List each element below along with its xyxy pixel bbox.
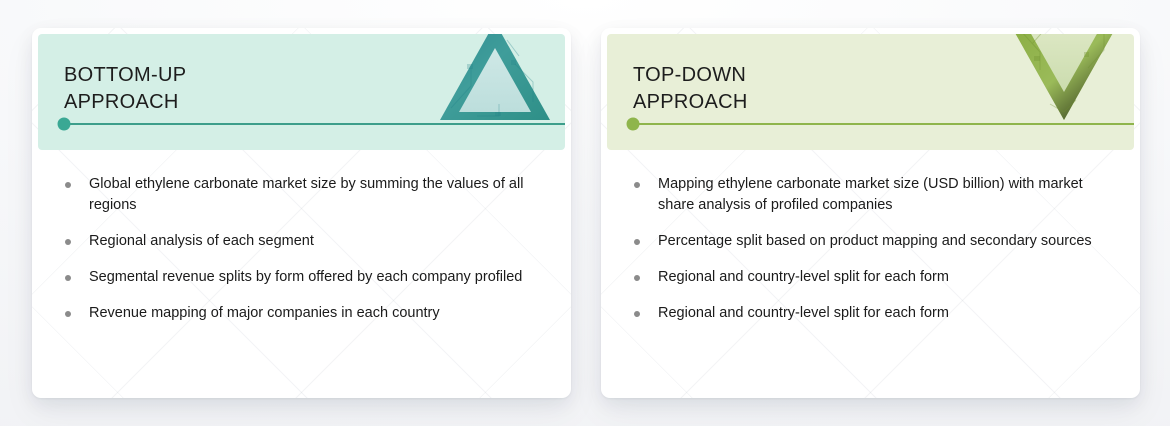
bullet-list-top-down: Mapping ethylene carbonate market size (… [631,174,1112,324]
triangle-up-icon [437,34,553,126]
bullet-dot-icon [65,275,71,281]
list-item: Regional and country-level split for eac… [631,267,1112,288]
header-rule-dot [58,118,71,131]
card-header-top-down: TOP-DOWN APPROACH [607,34,1134,150]
list-item: Segmental revenue splits by form offered… [62,267,543,288]
page-title-bottom-up: BOTTOM-UP APPROACH [64,62,186,116]
bullet-dot-icon [65,311,71,317]
list-item: Percentage split based on product mappin… [631,231,1112,252]
bullet-dot-icon [634,239,640,245]
list-item-text: Mapping ethylene carbonate market size (… [658,176,1083,213]
card-top-down: TOP-DOWN APPROACH [601,28,1140,398]
bullet-dot-icon [65,182,71,188]
bullet-list-bottom-up: Global ethylene carbonate market size by… [62,174,543,324]
card-bottom-up: BOTTOM-UP APPROACH [32,28,571,398]
list-item-text: Segmental revenue splits by form offered… [89,269,522,285]
list-item: Regional and country-level split for eac… [631,303,1112,324]
list-item-text: Revenue mapping of major companies in ea… [89,305,440,321]
header-rule-bar [70,123,565,125]
bullet-dot-icon [634,311,640,317]
bullet-dot-icon [65,239,71,245]
header-rule-bottom-up [64,123,565,125]
triangle-down-icon [1006,34,1122,126]
card-body-top-down: Mapping ethylene carbonate market size (… [607,150,1134,390]
approach-cards-container: BOTTOM-UP APPROACH [0,0,1170,426]
header-rule-top-down [633,123,1134,125]
list-item-text: Regional analysis of each segment [89,233,314,249]
list-item-text: Global ethylene carbonate market size by… [89,176,523,213]
header-rule-bar [639,123,1134,125]
list-item: Revenue mapping of major companies in ea… [62,303,543,324]
card-body-bottom-up: Global ethylene carbonate market size by… [38,150,565,390]
list-item: Global ethylene carbonate market size by… [62,174,543,216]
list-item-text: Regional and country-level split for eac… [658,269,949,285]
list-item-text: Percentage split based on product mappin… [658,233,1092,249]
page-title-top-down: TOP-DOWN APPROACH [633,62,748,116]
bullet-dot-icon [634,275,640,281]
card-header-bottom-up: BOTTOM-UP APPROACH [38,34,565,150]
list-item-text: Regional and country-level split for eac… [658,305,949,321]
list-item: Regional analysis of each segment [62,231,543,252]
bullet-dot-icon [634,182,640,188]
header-rule-dot [627,118,640,131]
list-item: Mapping ethylene carbonate market size (… [631,174,1112,216]
